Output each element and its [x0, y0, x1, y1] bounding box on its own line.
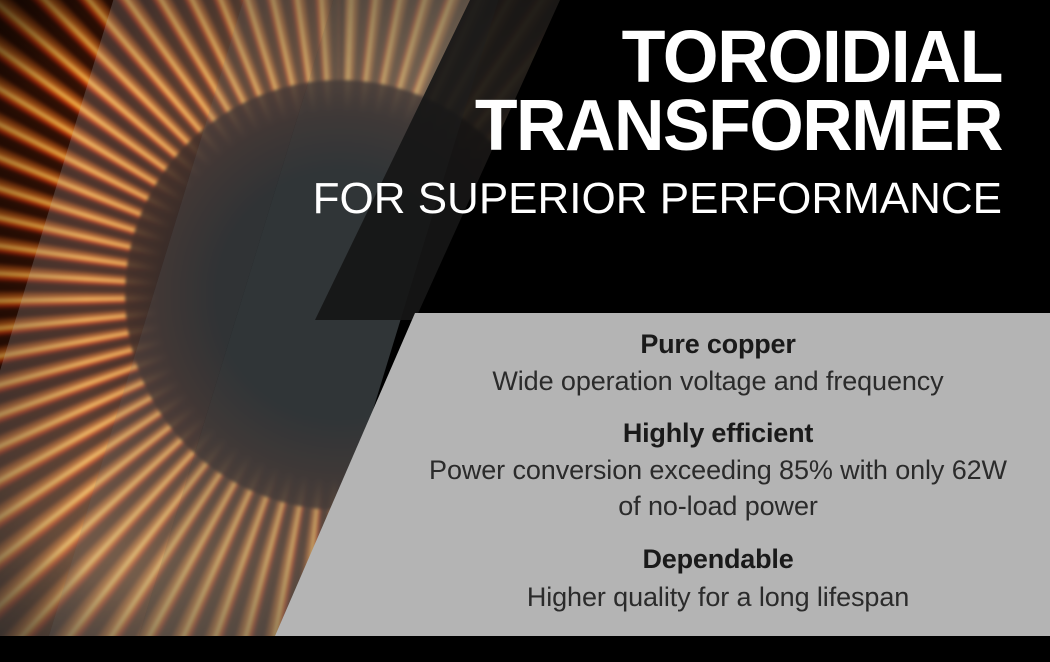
feature-item: Highly efficient Power conversion exceed…	[420, 414, 1016, 525]
bottom-bar	[0, 636, 1050, 662]
feature-item: Dependable Higher quality for a long lif…	[420, 540, 1016, 615]
headline-line-1: TOROIDIAL	[323, 22, 1002, 92]
headline-subtitle: FOR SUPERIOR PERFORMANCE	[302, 177, 1002, 221]
promotional-banner: TOROIDIAL TRANSFORMER FOR SUPERIOR PERFO…	[0, 0, 1050, 662]
feature-description: Higher quality for a long lifespan	[420, 579, 1016, 615]
feature-description: Power conversion exceeding 85% with only…	[420, 452, 1016, 524]
feature-title: Dependable	[420, 540, 1016, 578]
headline-group: TOROIDIAL TRANSFORMER FOR SUPERIOR PERFO…	[302, 22, 1002, 221]
feature-list: Pure copper Wide operation voltage and f…	[420, 325, 1016, 619]
feature-description: Wide operation voltage and frequency	[420, 363, 1016, 399]
feature-title: Highly efficient	[420, 414, 1016, 452]
feature-title: Pure copper	[420, 325, 1016, 363]
headline-line-2: TRANSFORMER	[323, 92, 1002, 160]
feature-item: Pure copper Wide operation voltage and f…	[420, 325, 1016, 400]
